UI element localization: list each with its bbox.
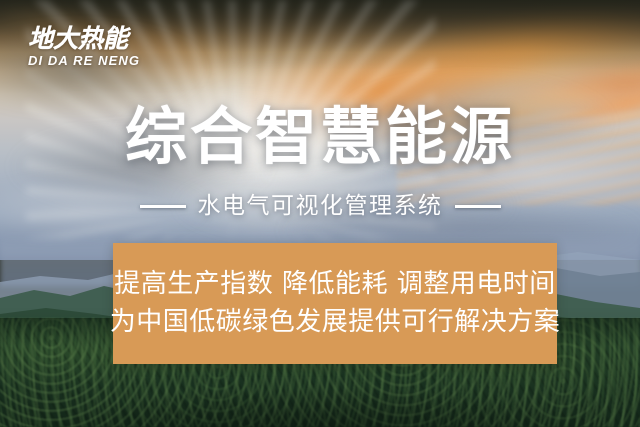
brand-logo[interactable]: 地大热能 DI DA RE NENG — [28, 26, 168, 67]
poster-root: 地大热能 DI DA RE NENG 综合智慧能源 水电气可视化管理系统 提高生… — [0, 0, 640, 427]
brand-logo-name-cn: 地大热能 — [28, 26, 168, 51]
subtitle-rule-left-icon — [140, 205, 186, 208]
hero-subtitle-row: 水电气可视化管理系统 — [0, 195, 640, 218]
banner-line-2: 为中国低碳绿色发展提供可行解决方案 — [110, 307, 561, 338]
hero-title: 综合智慧能源 — [0, 104, 640, 169]
banner-line-1: 提高生产指数 降低能耗 调整用电时间 — [114, 269, 556, 300]
value-proposition-banner: 提高生产指数 降低能耗 调整用电时间 为中国低碳绿色发展提供可行解决方案 — [113, 243, 557, 364]
subtitle-rule-right-icon — [455, 205, 501, 208]
hero-subtitle: 水电气可视化管理系统 — [198, 195, 443, 218]
brand-logo-name-pinyin: DI DA RE NENG — [28, 54, 168, 67]
